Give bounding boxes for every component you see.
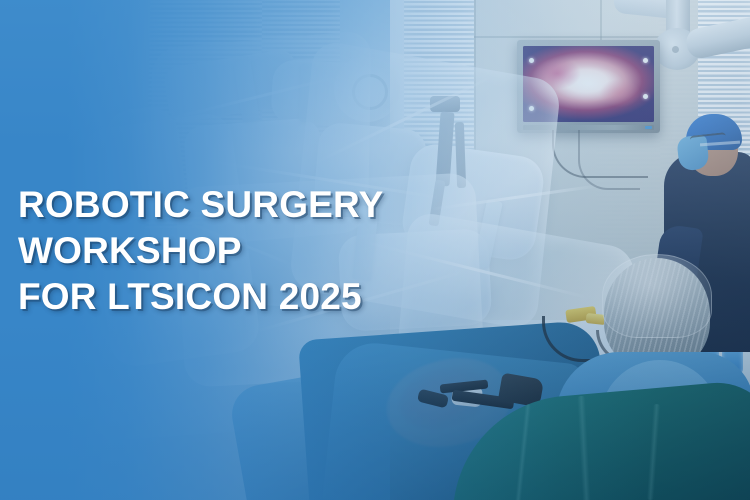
headline-line-2: WORKSHOP [18, 228, 438, 274]
event-promo-banner: ROBOTIC SURGERY WORKSHOP FOR LTSICON 202… [0, 0, 750, 500]
headline-line-3: FOR LTSICON 2025 [18, 274, 438, 320]
surgical-hairnet-icon [602, 254, 712, 338]
headline-line-1: ROBOTIC SURGERY [18, 182, 438, 228]
headline-block: ROBOTIC SURGERY WORKSHOP FOR LTSICON 202… [18, 182, 438, 320]
